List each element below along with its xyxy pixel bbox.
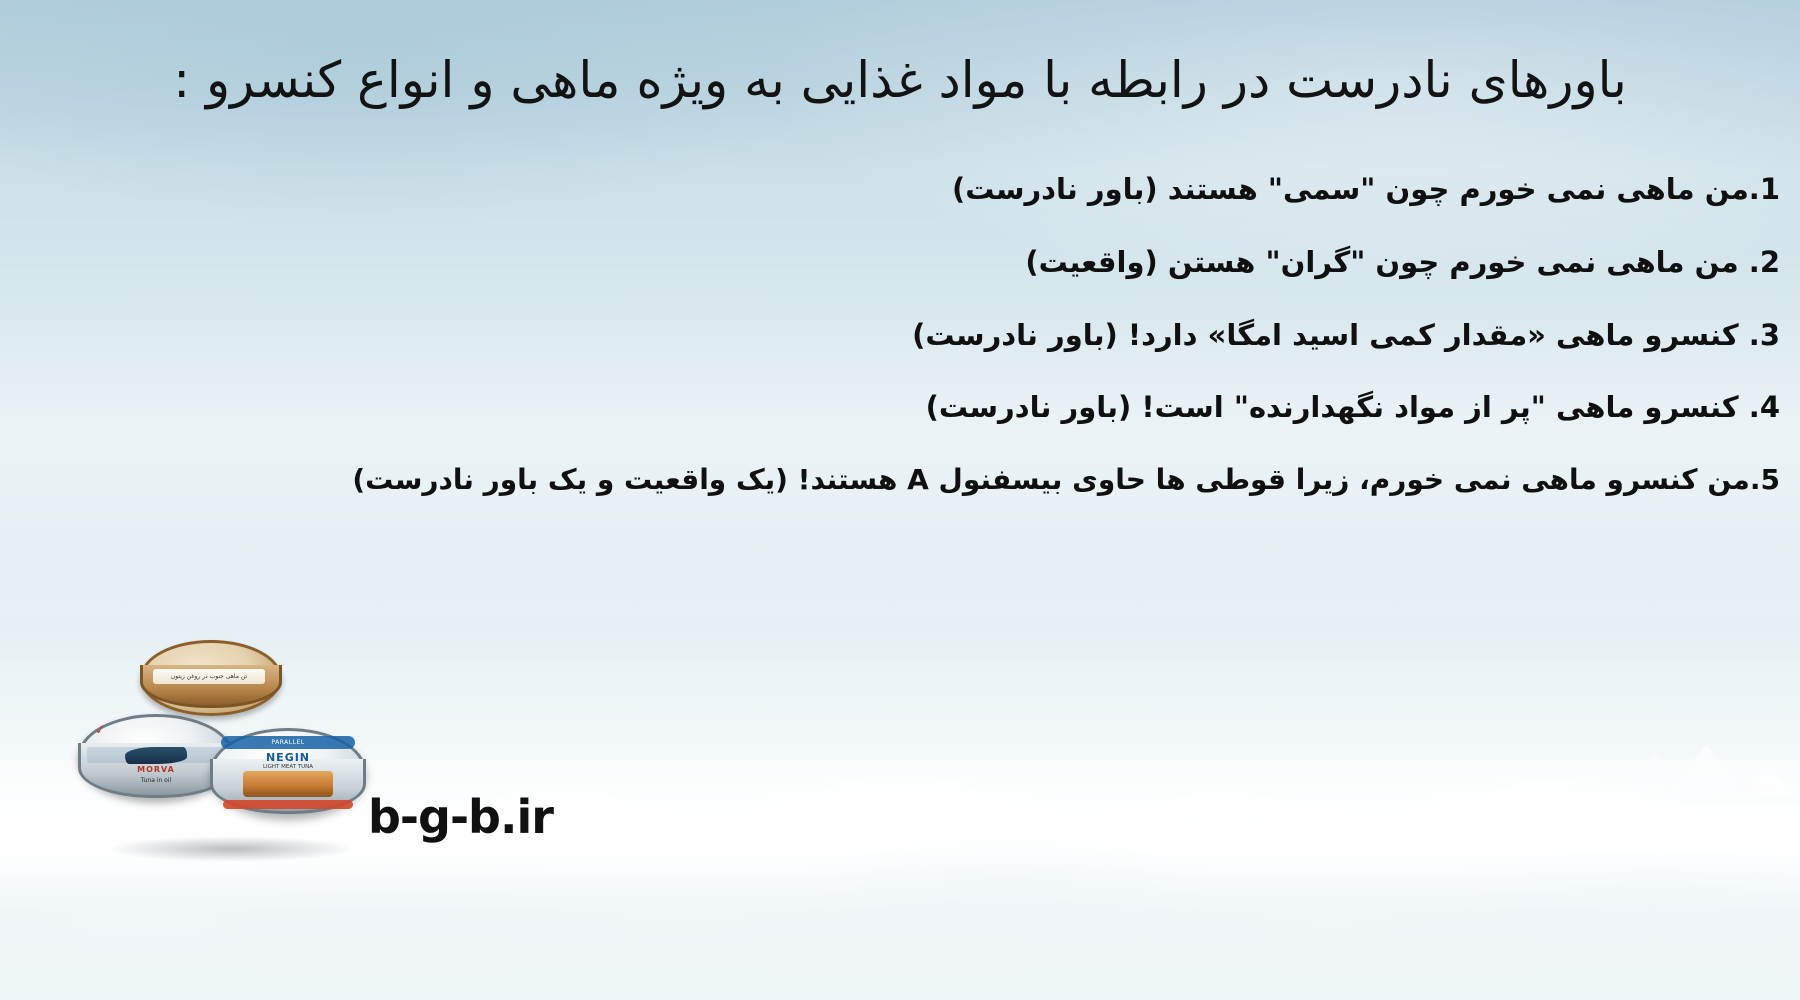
can-sub-text: LIGHT MEAT TUNA [213,764,363,770]
tuna-can-back: تن ماهی جنوب در روغن زیتون [140,640,282,716]
list-item: 3. کنسرو ماهی «مقدار کمی اسید امگا» دارد… [120,318,1780,353]
bullet-text: من ماهی نمی خورم چون "سمی" هستند (باور ن… [952,172,1749,206]
list-item: 5.من کنسرو ماهی نمی خورم، زیرا قوطی ها ح… [120,463,1780,497]
bullet-number: 3. [1749,318,1780,352]
can-red-band [223,800,353,809]
bullet-text: کنسرو ماهی «مقدار کمی اسید امگا» دارد! (… [912,318,1739,352]
bullet-list: 1.من ماهی نمی خورم چون "سمی" هستند (باور… [120,172,1780,535]
tuna-can-right: PARALLEL NEGIN LIGHT MEAT TUNA [210,728,366,814]
bullet-number: 2. [1749,245,1780,279]
list-item: 4. کنسرو ماهی "پر از مواد نگهدارنده" است… [120,390,1780,425]
can-brand-text: MORVA [81,765,231,774]
bullet-number: 4. [1749,390,1780,424]
page-title: باورهای نادرست در رابطه با مواد غذایی به… [28,52,1772,108]
can-sub-text: Tuna in oil [81,777,231,784]
bullet-number: 5. [1750,463,1780,496]
bullet-number: 1. [1749,172,1780,206]
bullet-text: من کنسرو ماهی نمی خورم، زیرا قوطی ها حاو… [352,463,1750,496]
list-item: 1.من ماهی نمی خورم چون "سمی" هستند (باور… [120,172,1780,207]
check-mark-icon: ✓ [94,722,107,738]
bullet-text: من ماهی نمی خورم چون "گران" هستن (واقعیت… [1025,245,1738,279]
can-brand-text: NEGIN [213,751,363,764]
list-item: 2. من ماهی نمی خورم چون "گران" هستن (واق… [120,245,1780,280]
slide-canvas: باورهای نادرست در رابطه با مواد غذایی به… [0,0,1800,1000]
can-label-text: تن ماهی جنوب در روغن زیتون [153,669,265,684]
bullet-text: کنسرو ماهی "پر از مواد نگهدارنده" است! (… [926,390,1739,424]
slide-content: باورهای نادرست در رابطه با مواد غذایی به… [0,0,1800,1000]
watermark-text: b-g-b.ir [368,790,553,844]
can-topband-text: PARALLEL [221,736,355,749]
can-food-photo [243,771,333,797]
fish-icon [125,747,187,764]
tuna-cans-image: تن ماهی جنوب در روغن زیتون ✓ MORVA Tuna … [78,640,378,880]
cans-shadow [106,836,356,862]
